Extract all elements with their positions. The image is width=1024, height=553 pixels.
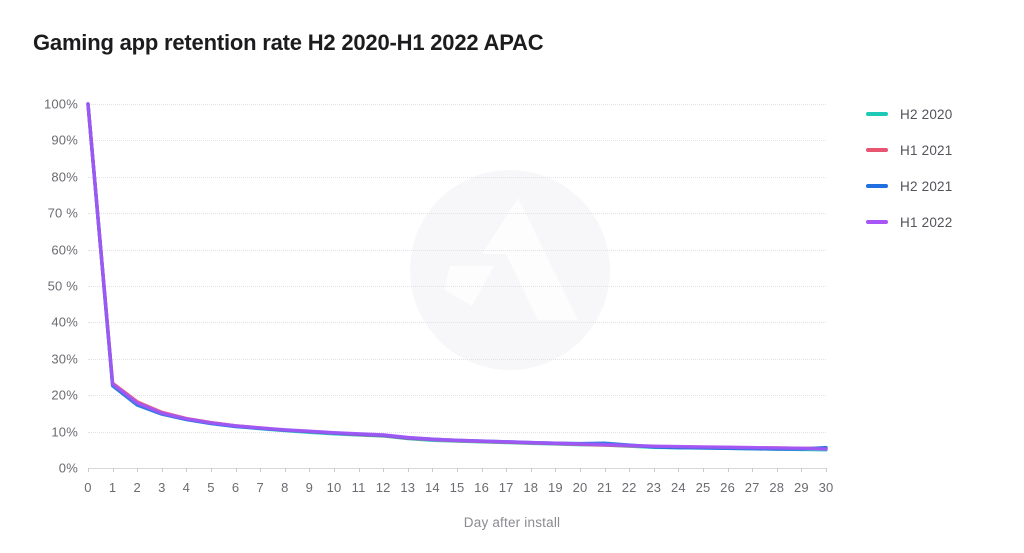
x-axis-tick-label: 24 (671, 480, 686, 495)
y-axis-tick-label: 60% (51, 242, 78, 257)
x-axis-tick-labels: 0123456789101112131415161718192021222324… (88, 480, 826, 500)
legend-item[interactable]: H2 2021 (866, 168, 1016, 204)
y-axis-tick-labels: 100%90%80%70 %60%50 %40%30%20%10%0% (0, 104, 78, 468)
x-axis-tick-mark (285, 468, 286, 472)
x-axis-tick-label: 20 (573, 480, 588, 495)
y-axis-tick-label: 100% (44, 97, 78, 112)
y-axis-tick-label: 0% (59, 461, 78, 476)
legend-item[interactable]: H2 2020 (866, 96, 1016, 132)
x-axis-tick-mark (432, 468, 433, 472)
series-line (88, 104, 826, 449)
x-axis-tick-label: 22 (622, 480, 637, 495)
x-axis-tick-label: 0 (84, 480, 91, 495)
x-axis-tick-mark (457, 468, 458, 472)
x-axis-tick-mark (359, 468, 360, 472)
y-axis-tick-label: 30% (51, 351, 78, 366)
x-axis-tick-mark (236, 468, 237, 472)
x-axis-tick-mark (777, 468, 778, 472)
x-axis-tick-mark (482, 468, 483, 472)
x-axis-tick-mark (383, 468, 384, 472)
x-axis-tick-label: 26 (720, 480, 735, 495)
y-axis-tick-label: 20% (51, 388, 78, 403)
x-axis-tick-mark (531, 468, 532, 472)
series-lines (88, 104, 826, 468)
x-axis-tick-label: 11 (352, 480, 366, 495)
legend-item-label: H1 2021 (900, 143, 952, 158)
x-axis-tick-label: 18 (523, 480, 538, 495)
x-axis-tick-mark (506, 468, 507, 472)
x-axis-tick-label: 30 (819, 480, 834, 495)
x-axis-tick-label: 3 (158, 480, 165, 495)
x-axis-tick-label: 19 (548, 480, 563, 495)
x-axis-tick-label: 10 (327, 480, 342, 495)
x-axis-tick-label: 12 (376, 480, 391, 495)
x-axis-tick-label: 17 (499, 480, 514, 495)
x-axis-tick-mark (654, 468, 655, 472)
x-axis-tick-label: 14 (425, 480, 440, 495)
legend-item[interactable]: H1 2021 (866, 132, 1016, 168)
legend-item-label: H1 2022 (900, 215, 952, 230)
x-axis-tick-label: 7 (256, 480, 263, 495)
legend-color-swatch (866, 220, 888, 224)
x-axis-tick-label: 27 (745, 480, 760, 495)
y-axis-tick-label: 90% (51, 133, 78, 148)
x-axis-tick-mark (186, 468, 187, 472)
x-axis-tick-label: 28 (769, 480, 784, 495)
x-axis-tick-label: 16 (474, 480, 489, 495)
x-axis-tick-mark (88, 468, 89, 472)
x-axis-tick-mark (162, 468, 163, 472)
series-line (88, 104, 826, 449)
legend-color-swatch (866, 112, 888, 116)
y-axis-tick-label: 50 % (48, 279, 78, 294)
x-axis-tick-label: 2 (133, 480, 140, 495)
legend-item-label: H2 2020 (900, 107, 952, 122)
x-axis-tick-label: 6 (232, 480, 239, 495)
x-axis-tick-label: 15 (450, 480, 465, 495)
x-axis-tick-label: 29 (794, 480, 809, 495)
legend-item[interactable]: H1 2022 (866, 204, 1016, 240)
x-axis-tick-mark (113, 468, 114, 472)
page-title: Gaming app retention rate H2 2020-H1 202… (33, 30, 543, 56)
x-axis-tick-mark (309, 468, 310, 472)
retention-chart-card: Gaming app retention rate H2 2020-H1 202… (0, 0, 1024, 553)
x-axis-tick-label: 1 (109, 480, 116, 495)
x-axis-tick-mark (334, 468, 335, 472)
legend: H2 2020H1 2021H2 2021H1 2022 (866, 96, 1016, 240)
y-axis-tick-label: 40% (51, 315, 78, 330)
series-line (88, 104, 826, 448)
plot-area (88, 104, 826, 468)
x-axis-tick-mark (211, 468, 212, 472)
x-axis-tick-label: 4 (183, 480, 190, 495)
x-axis-tick-mark (801, 468, 802, 472)
x-axis-tick-label: 5 (207, 480, 214, 495)
x-axis-tick-mark (703, 468, 704, 472)
y-axis-tick-label: 70 % (48, 206, 78, 221)
x-axis-tick-mark (137, 468, 138, 472)
x-axis-tick-label: 13 (400, 480, 415, 495)
x-axis-tick-mark (629, 468, 630, 472)
legend-color-swatch (866, 184, 888, 188)
x-axis-tick-label: 23 (646, 480, 661, 495)
legend-color-swatch (866, 148, 888, 152)
x-axis-tick-mark (555, 468, 556, 472)
x-axis-tick-label: 21 (597, 480, 612, 495)
x-axis-tick-mark (408, 468, 409, 472)
y-axis-tick-label: 10% (51, 424, 78, 439)
x-axis-tick-mark (605, 468, 606, 472)
x-axis-tick-mark (728, 468, 729, 472)
y-axis-tick-label: 80% (51, 169, 78, 184)
x-axis-tick-mark (260, 468, 261, 472)
x-axis-tick-mark (752, 468, 753, 472)
legend-item-label: H2 2021 (900, 179, 952, 194)
x-axis-tick-mark (678, 468, 679, 472)
x-axis-tick-mark (826, 468, 827, 472)
x-axis-tick-label: 9 (306, 480, 313, 495)
x-axis-title: Day after install (0, 515, 1024, 530)
x-axis-tick-label: 25 (696, 480, 711, 495)
x-axis-tick-mark (580, 468, 581, 472)
x-axis-tick-label: 8 (281, 480, 288, 495)
series-line (88, 104, 826, 450)
